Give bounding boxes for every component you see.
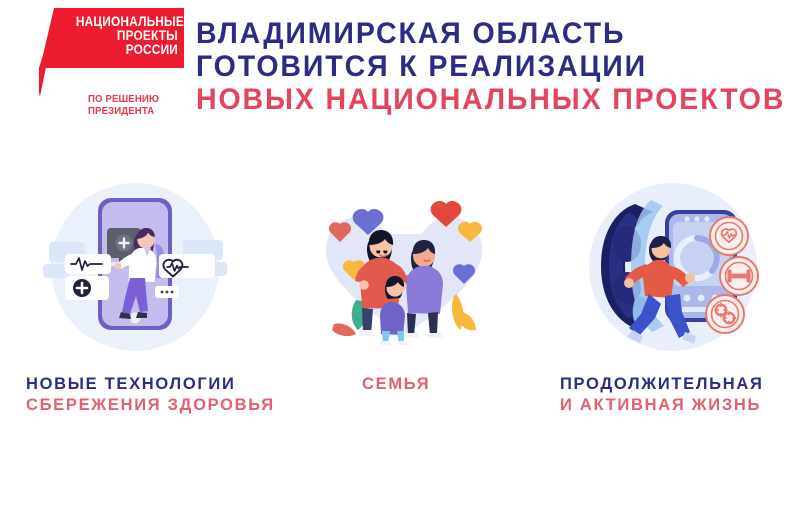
logo-sub-line-2: ПРЕЗИДЕНТА xyxy=(88,106,180,118)
logo-line-1: НАЦИОНАЛЬНЫЕ xyxy=(76,15,178,29)
caption-1-line-1: НОВЫЕ ТЕХНОЛОГИИ xyxy=(26,374,295,395)
caption-3-line-1: ПРОДОЛЖИТЕЛЬНАЯ xyxy=(560,374,807,395)
project-cards: НОВЫЕ ТЕХНОЛОГИИ СБЕРЕЖЕНИЯ ЗДОРОВЬЯ xyxy=(0,178,807,428)
logo-line-2: ПРОЕКТЫ xyxy=(76,29,178,43)
family-heart-icon xyxy=(304,178,504,356)
telemedicine-doctor-phone-icon xyxy=(35,178,235,356)
caption-3-line-2: И АКТИВНАЯ ЖИЗНЬ xyxy=(560,395,807,416)
logo-flag-text: НАЦИОНАЛЬНЫЕ ПРОЕКТЫ РОССИИ xyxy=(62,15,178,57)
headline-line-1: ВЛАДИМИРСКАЯ ОБЛАСТЬ xyxy=(196,17,771,50)
logo-subtitle: ПО РЕШЕНИЮ ПРЕЗИДЕНТА xyxy=(88,94,188,118)
national-projects-logo: НАЦИОНАЛЬНЫЕ ПРОЕКТЫ РОССИИ ПО РЕШЕНИЮ П… xyxy=(14,6,186,128)
project-card-health-tech: НОВЫЕ ТЕХНОЛОГИИ СБЕРЕЖЕНИЯ ЗДОРОВЬЯ xyxy=(0,178,269,428)
poster-canvas: НАЦИОНАЛЬНЫЕ ПРОЕКТЫ РОССИИ ПО РЕШЕНИЮ П… xyxy=(0,0,807,510)
smartwatch-runner-fitness-icon xyxy=(573,178,773,356)
headline-line-3: НОВЫХ НАЦИОНАЛЬНЫХ ПРОЕКТОВ xyxy=(196,83,771,116)
card-caption-health-tech: НОВЫЕ ТЕХНОЛОГИИ СБЕРЕЖЕНИЯ ЗДОРОВЬЯ xyxy=(0,374,295,416)
caption-1-line-2: СБЕРЕЖЕНИЯ ЗДОРОВЬЯ xyxy=(26,395,295,416)
headline-line-2: ГОТОВИТСЯ К РЕАЛИЗАЦИИ xyxy=(196,50,771,83)
card-caption-active-life: ПРОДОЛЖИТЕЛЬНАЯ И АКТИВНАЯ ЖИЗНЬ xyxy=(538,374,807,416)
project-card-active-life: ПРОДОЛЖИТЕЛЬНАЯ И АКТИВНАЯ ЖИЗНЬ xyxy=(538,178,807,428)
page-title: ВЛАДИМИРСКАЯ ОБЛАСТЬ ГОТОВИТСЯ К РЕАЛИЗА… xyxy=(196,17,801,116)
project-card-family: СЕМЬЯ xyxy=(269,178,538,428)
logo-line-3: РОССИИ xyxy=(76,43,178,57)
